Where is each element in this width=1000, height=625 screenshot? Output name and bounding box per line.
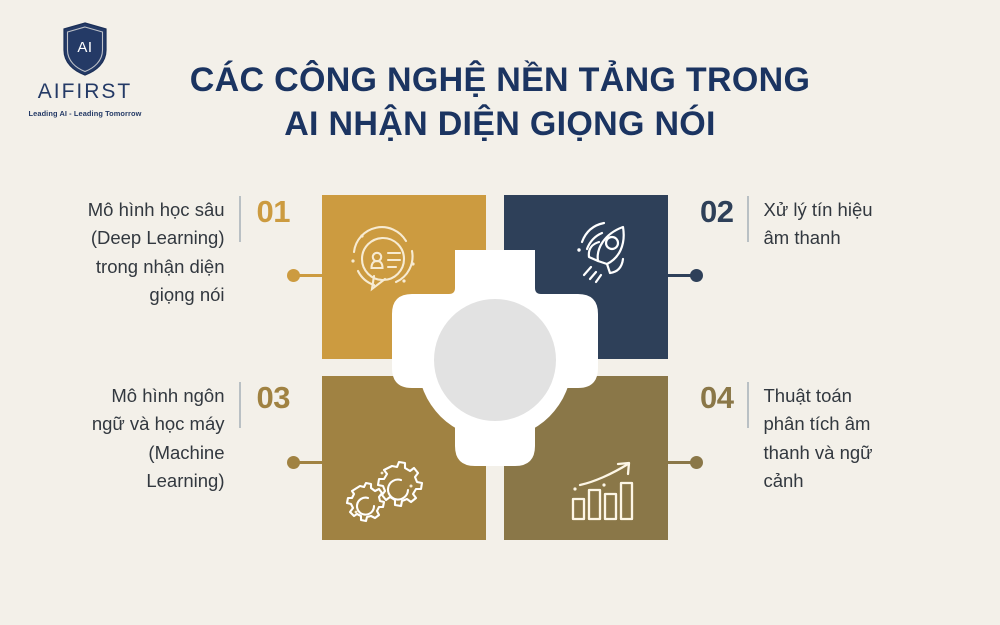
info-item-01-number: 01 [257,196,290,227]
info-item-04-number: 04 [700,382,733,413]
info-item-03-text: Mô hình ngôn ngữ và học máy (Machine Lea… [92,382,225,495]
info-item-01-text: Mô hình học sâu (Deep Learning) trong nh… [88,196,225,309]
info-item-03-divider [239,382,241,428]
logo-wordmark: AIFIRST [20,81,150,102]
shield-ai-text: AI [77,39,92,56]
info-item-04-divider [747,382,749,428]
page-title-line1: CÁC CÔNG NGHỆ NỀN TẢNG TRONG [160,58,840,102]
info-item-02-number: 02 [700,196,733,227]
info-item-03-number: 03 [257,382,290,413]
page-title: CÁC CÔNG NGHỆ NỀN TẢNG TRONG AI NHẬN DIỆ… [160,58,840,146]
brand-logo: AI AIFIRST Leading AI - Leading Tomorrow [20,22,150,118]
info-item-02-text: Xử lý tín hiệu âm thanh [763,196,872,253]
connector-line-01 [291,274,325,277]
info-item-02[interactable]: 02 Xử lý tín hiệu âm thanh [700,196,950,253]
info-item-04[interactable]: 04 Thuật toán phân tích âm thanh và ngữ … [700,382,952,495]
connector-line-02 [665,274,699,277]
info-item-02-divider [747,196,749,242]
info-item-04-text: Thuật toán phân tích âm thanh và ngữ cản… [763,382,872,495]
info-item-01[interactable]: Mô hình học sâu (Deep Learning) trong nh… [38,196,290,309]
connector-line-03 [291,461,325,464]
connector-line-04 [665,461,699,464]
info-item-03[interactable]: Mô hình ngôn ngữ và học máy (Machine Lea… [58,382,290,495]
center-gear-graphic [392,250,598,482]
logo-tagline: Leading AI - Leading Tomorrow [20,109,150,118]
page-title-line2: AI NHẬN DIỆN GIỌNG NÓI [160,102,840,146]
info-item-01-divider [239,196,241,242]
gear-cog-icon [392,250,598,482]
connector-dot-02 [690,269,703,282]
shield-icon: AI [62,22,108,76]
center-inner-circle [434,299,556,421]
